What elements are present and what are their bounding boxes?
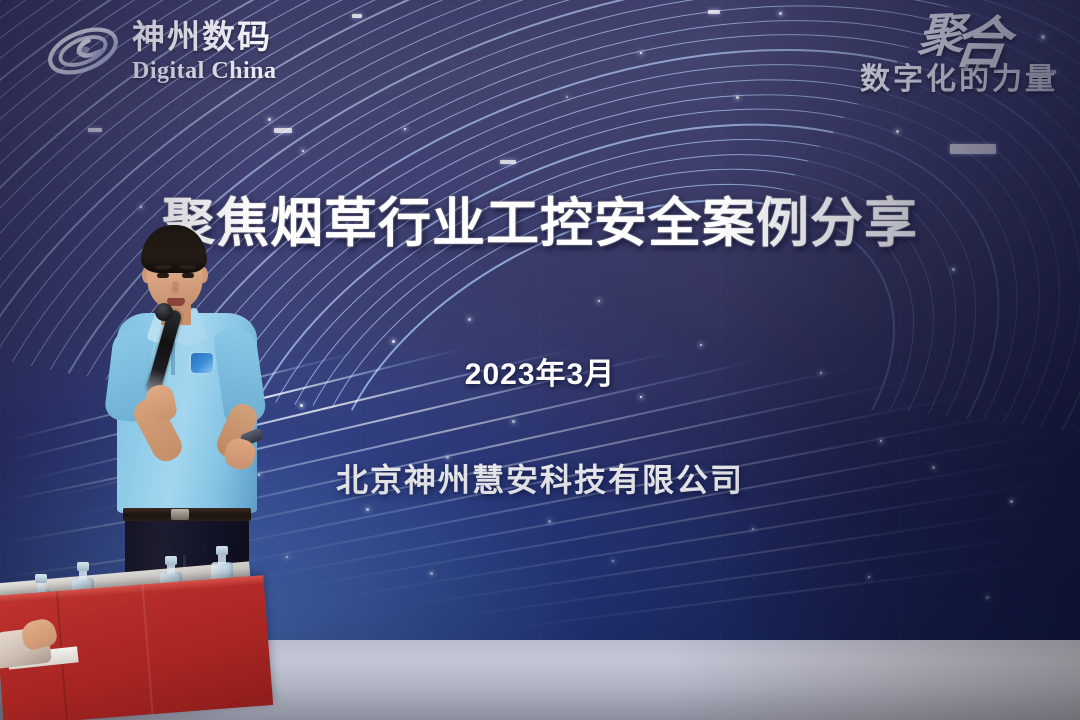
light-particle [268, 118, 271, 121]
brand-name-cn: 神州数码 [132, 20, 277, 53]
light-particle [896, 130, 899, 133]
speaker-person [95, 225, 285, 625]
speaker-nose [172, 281, 179, 293]
light-particle [300, 404, 303, 407]
light-particle [512, 420, 515, 423]
light-particle [566, 96, 568, 98]
digital-china-logo-lockup: 神州数码 Digital China [44, 18, 277, 84]
light-streak [384, 504, 1077, 610]
light-dash [88, 128, 102, 132]
light-particle [986, 596, 989, 599]
light-particle [752, 528, 754, 530]
light-streak [247, 429, 1064, 580]
digital-china-swirl-icon [44, 18, 122, 84]
light-dash [708, 10, 720, 14]
light-dash [950, 144, 996, 154]
light-particle [736, 96, 739, 99]
light-particle [302, 150, 304, 152]
light-particle [868, 576, 870, 578]
light-dash [274, 128, 292, 133]
light-particle [640, 396, 642, 398]
speaker-hair [141, 225, 207, 273]
speaker-eye-right [182, 273, 194, 278]
light-particle [640, 52, 642, 54]
light-particle [700, 344, 702, 346]
light-dash [352, 14, 362, 18]
seated-attendee-hand [0, 612, 64, 674]
light-particle [404, 128, 406, 130]
light-particle [392, 340, 395, 343]
speaker-eye-left [157, 273, 169, 278]
light-particle [430, 572, 433, 575]
light-particle [779, 12, 782, 15]
light-particle [468, 318, 471, 321]
company-emblem-icon [191, 353, 213, 373]
light-particle [548, 520, 551, 523]
light-particle [880, 440, 882, 442]
attendee-hand [19, 616, 59, 651]
light-particle [366, 508, 369, 511]
conference-stage-photo: 神州数码 Digital China 聚合 数字化的力量 聚焦烟草行业工控安全案… [0, 0, 1080, 720]
wave-arc [159, 30, 1062, 648]
light-dash [500, 160, 516, 164]
light-particle [286, 556, 288, 558]
light-streak [482, 558, 1058, 633]
calligraphy-juhe: 聚合 [917, 12, 1002, 59]
table-cloth-fold [142, 584, 154, 714]
calligraphy-char-he: 合 [950, 18, 1007, 71]
brand-text-block: 神州数码 Digital China [132, 20, 277, 83]
light-particle [952, 268, 955, 271]
light-particle [612, 560, 614, 562]
speaker-belt-buckle [171, 509, 189, 520]
brand-name-en: Digital China [132, 59, 277, 83]
light-streak [433, 531, 1067, 621]
event-theme-lockup: 聚合 数字化的力量 [860, 14, 1058, 98]
light-particle [598, 300, 600, 302]
